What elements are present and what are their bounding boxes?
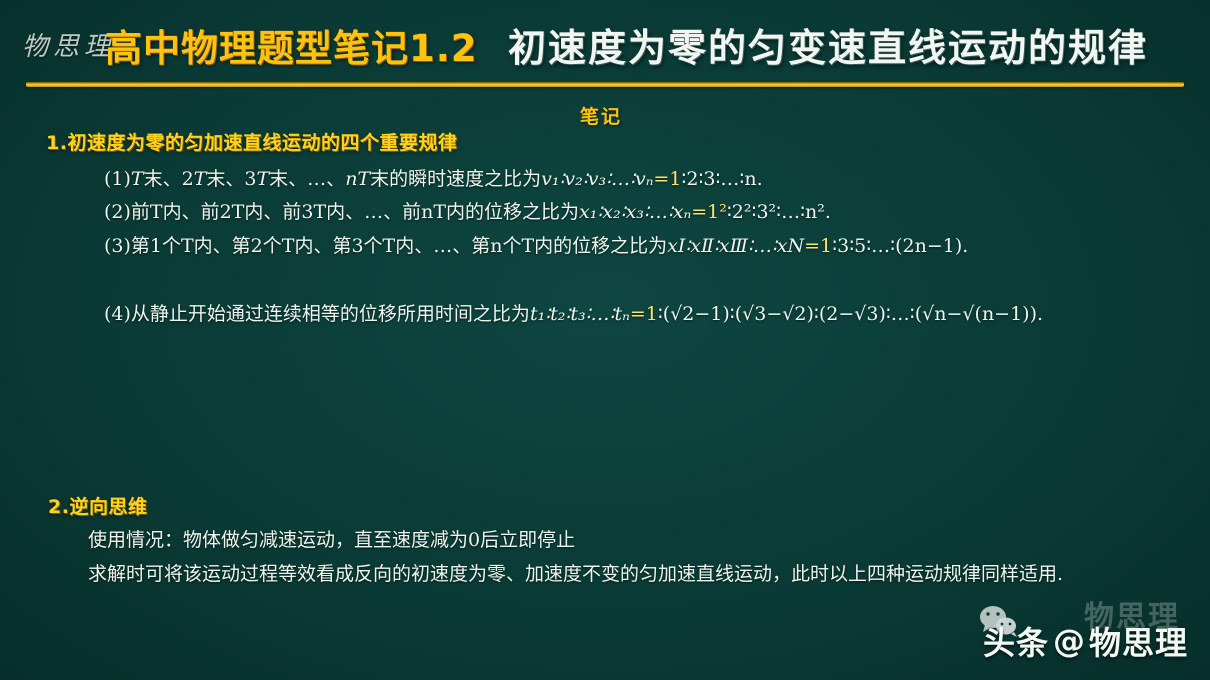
item-1-text-a: 末、2: [144, 168, 194, 190]
watermark-bottom: 头条 @ 物思理: [983, 618, 1188, 664]
notes-label: 笔记: [580, 102, 622, 129]
item-2-text: 前T内、前2T内、前3T内、…、前nT内的位移之比为: [131, 201, 579, 223]
section-2-line-2: 求解时可将该运动过程等效看成反向的初速度为零、加速度不变的匀加速直线运动，此时以…: [88, 558, 1198, 591]
section-1-item-4: (4)从静止开始通过连续相等的位移所用时间之比为t₁∶t₂∶t₃∶…∶tₙ=1∶…: [104, 298, 1194, 331]
item-4-ratio-right: ∶(√2−1)∶(√3−√2)∶(2−√3)∶…∶(√n−√(n−1)).: [658, 303, 1043, 325]
item-1-text-b: 末、3: [206, 168, 256, 190]
item-3-prefix: (3): [104, 235, 131, 257]
item-2-ratio-right: ∶2²∶3²∶…∶n².: [727, 201, 831, 223]
page-title-subject: 初速度为零的匀变速直线运动的规律: [508, 17, 1148, 72]
item-1-text-c: 末、…、: [269, 168, 345, 190]
item-1-ratio-right: ∶2∶3∶…∶n.: [681, 168, 762, 190]
section-1-item-2: (2)前T内、前2T内、前3T内、…、前nT内的位移之比为x₁∶x₂∶x₃∶…∶…: [104, 196, 831, 229]
watermark-platform: 头条: [983, 618, 1049, 664]
item-1-prefix: (1): [104, 168, 131, 190]
item-4-equals: =1: [630, 303, 658, 325]
header-divider: [26, 82, 1184, 87]
section-1-item-3: (3)第1个T内、第2个T内、第3个T内、…、第n个T内的位移之比为xⅠ∶xⅡ∶…: [104, 230, 1194, 263]
item-3-text: 第1个T内、第2个T内、第3个T内、…、第n个T内的位移之比为: [131, 235, 667, 257]
item-4-ratio-left: t₁∶t₂∶t₃∶…∶tₙ: [530, 303, 630, 325]
section-2-heading: 2.逆向思维: [48, 492, 147, 519]
section-1-item-1: (1)T末、2T末、3T末、…、nT末的瞬时速度之比为v₁∶v₂∶v₃∶…∶vₙ…: [104, 163, 763, 196]
item-1-equals: =1: [653, 168, 681, 190]
item-2-equals: =1²: [691, 201, 727, 223]
section-2-line-1: 使用情况：物体做匀减速运动，直至速度减为0后立即停止: [88, 524, 575, 557]
slide-canvas: 物思理 高中物理题型笔记1.2 初速度为零的匀变速直线运动的规律 笔记 1.初速…: [0, 0, 1210, 680]
watermark-account: 物思理: [1089, 618, 1188, 664]
item-3-ratio-right: ∶3∶5∶…∶(2n−1).: [832, 235, 968, 257]
item-2-ratio-left: x₁∶x₂∶x₃∶…∶xₙ: [579, 201, 691, 223]
item-4-prefix: (4): [104, 303, 131, 325]
item-2-prefix: (2): [104, 201, 131, 223]
item-3-ratio-left: xⅠ∶xⅡ∶xⅢ∶…∶xN: [667, 235, 804, 257]
item-4-text: 从静止开始通过连续相等的位移所用时间之比为: [131, 303, 530, 325]
page-title-main: 高中物理题型笔记1.2: [105, 18, 478, 72]
watermark-at-symbol: @: [1053, 622, 1085, 660]
section-1-heading: 1.初速度为零的匀加速直线运动的四个重要规律: [46, 128, 457, 155]
item-1-ratio-left: v₁∶v₂∶v₃∶…∶vₙ: [541, 168, 653, 190]
item-3-equals: =1: [804, 235, 832, 257]
slide-header: 物思理 高中物理题型笔记1.2 初速度为零的匀变速直线运动的规律: [0, 0, 1210, 88]
item-1-text-d: 末的瞬时速度之比为: [370, 168, 541, 190]
brand-logo: 物思理: [22, 26, 115, 63]
